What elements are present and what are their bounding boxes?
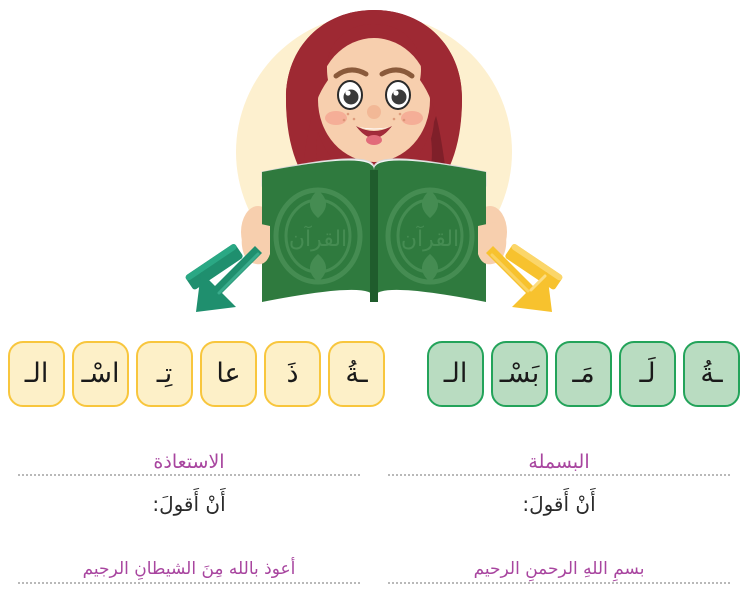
- quran-book: القرآن القرآن: [262, 159, 486, 302]
- svg-text:القرآن: القرآن: [289, 225, 347, 252]
- label-istiadha: الاستعاذة: [147, 451, 230, 473]
- cheek-left: [325, 111, 347, 125]
- tile-istiadha-1[interactable]: الـ: [8, 341, 65, 407]
- tile-istiadha-4[interactable]: عا: [200, 341, 257, 407]
- tile-istiadha-5[interactable]: ذَ: [264, 341, 321, 407]
- answer-line-basmala: بسمِ اللهِ الرحمنِ الرحيم: [388, 556, 730, 584]
- label-line-basmala: البسملة: [388, 448, 730, 476]
- column-basmala-answer: بسمِ اللهِ الرحمنِ الرحيم: [374, 556, 748, 584]
- column-istiadha-saying: أَنْ أَقولَ:: [0, 492, 374, 526]
- tile-basmala-2[interactable]: بَسْـ: [491, 341, 548, 407]
- book-spine: [370, 170, 378, 302]
- label-row: الاستعاذة البسملة: [0, 448, 748, 476]
- saying-basmala: أَنْ أَقولَ:: [388, 492, 730, 526]
- tiles-row: الـ اسْـ تِـ عا ذَ ـةُ الـ بَسْـ مَـ لَـ…: [0, 338, 748, 410]
- eye-highlight-right: [393, 90, 398, 95]
- column-istiadha-label: الاستعاذة: [0, 448, 374, 476]
- tile-istiadha-3[interactable]: تِـ: [136, 341, 193, 407]
- column-istiadha-answer: أعوذ بالله مِنَ الشيطانِ الرجيم: [0, 556, 374, 584]
- column-basmala-label: البسملة: [374, 448, 748, 476]
- svg-text:القرآن: القرآن: [401, 225, 459, 252]
- answer-basmala: بسمِ اللهِ الرحمنِ الرحيم: [468, 559, 651, 579]
- tile-group-istiadha: الـ اسْـ تِـ عا ذَ ـةُ: [8, 341, 385, 407]
- answer-row: أعوذ بالله مِنَ الشيطانِ الرجيم بسمِ الل…: [0, 556, 748, 584]
- tile-basmala-5[interactable]: ـةُ: [683, 341, 740, 407]
- eye-highlight-left: [345, 90, 350, 95]
- tile-group-basmala: الـ بَسْـ مَـ لَـ ـةُ: [427, 341, 740, 407]
- saying-istiadha: أَنْ أَقولَ:: [18, 492, 360, 526]
- column-basmala-saying: أَنْ أَقولَ:: [374, 492, 748, 526]
- tongue: [366, 135, 382, 145]
- answer-line-istiadha: أعوذ بالله مِنَ الشيطانِ الرجيم: [18, 556, 360, 584]
- illustration-girl-reading-quran: القرآن القرآن: [0, 0, 748, 335]
- nose: [367, 105, 381, 119]
- tile-istiadha-6[interactable]: ـةُ: [328, 341, 385, 407]
- saying-row: أَنْ أَقولَ: أَنْ أَقولَ:: [0, 492, 748, 526]
- label-basmala: البسملة: [522, 451, 595, 473]
- answer-istiadha: أعوذ بالله مِنَ الشيطانِ الرجيم: [77, 559, 302, 579]
- tile-basmala-3[interactable]: مَـ: [555, 341, 612, 407]
- tile-basmala-1[interactable]: الـ: [427, 341, 484, 407]
- label-line-istiadha: الاستعاذة: [18, 448, 360, 476]
- tile-basmala-4[interactable]: لَـ: [619, 341, 676, 407]
- cheek-right: [401, 111, 423, 125]
- tile-istiadha-2[interactable]: اسْـ: [72, 341, 129, 407]
